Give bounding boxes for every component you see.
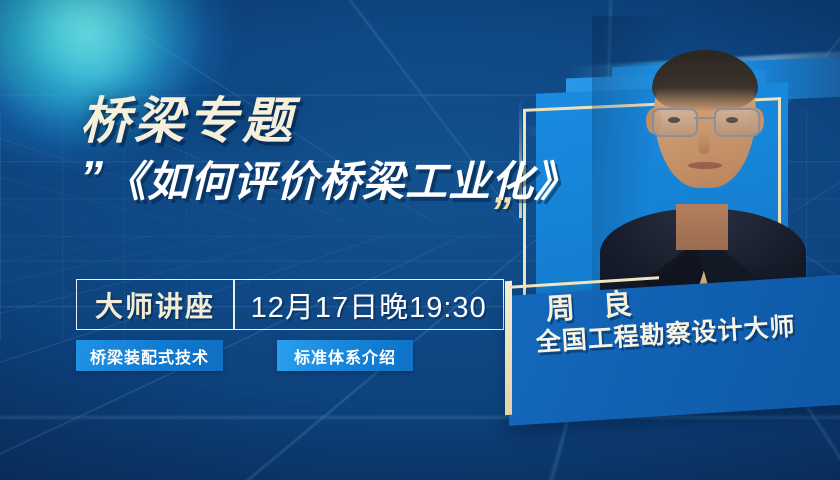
webinar-poster: 桥梁专题 ” 《如何评价桥梁工业化》 ” 大师讲座 12月17日晚19:30 桥… xyxy=(0,0,840,480)
topic-tag-1[interactable]: 桥梁装配式技术 xyxy=(76,340,223,371)
session-time: 12月17日晚19:30 xyxy=(235,284,503,326)
topic-tag-list: 桥梁装配式技术 标准体系介绍 xyxy=(76,340,413,371)
topic-tag-2[interactable]: 标准体系介绍 xyxy=(277,340,413,371)
headline-block: 桥梁专题 ” 《如何评价桥梁工业化》 xyxy=(80,96,550,204)
session-label: 大师讲座 xyxy=(77,285,233,325)
speaker-panel-accent xyxy=(505,281,512,415)
page-title: 桥梁专题 xyxy=(80,96,550,146)
quote-open-mark: ” xyxy=(80,160,100,195)
session-info-bar: 大师讲座 12月17日晚19:30 xyxy=(76,279,504,330)
quote-close-mark: ” xyxy=(490,196,508,228)
session-label-segment: 大师讲座 xyxy=(77,280,233,329)
subtitle-row: ” 《如何评价桥梁工业化》 xyxy=(80,160,550,204)
session-time-segment: 12月17日晚19:30 xyxy=(235,280,503,329)
